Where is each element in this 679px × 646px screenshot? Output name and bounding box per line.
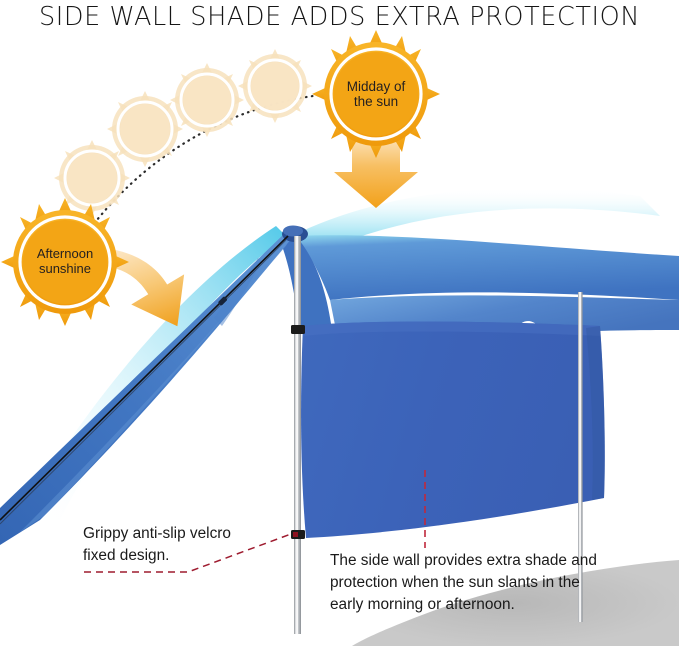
afternoon-callout: Afternoon sunshine [6, 203, 124, 321]
midday-label-line2: the sun [354, 94, 398, 109]
velcro-annotation-text: Grippy anti-slip velcro fixed design. [83, 523, 231, 567]
velcro-clip-top [291, 325, 305, 334]
infographic-canvas: SIDE WALL SHADE ADDS EXTRA PROTECTION [0, 0, 679, 646]
afternoon-label-line1: Afternoon [37, 247, 93, 262]
midday-label-line1: Midday of [347, 79, 406, 94]
sidewall-annotation-text: The side wall provides extra shade and p… [330, 550, 597, 616]
faded-sun-group [54, 49, 312, 216]
velcro-clip-bottom [291, 530, 305, 539]
faded-sun-2 [107, 91, 183, 167]
midday-callout-label: Midday of the sun [317, 35, 435, 153]
afternoon-label-line2: sunshine [39, 262, 91, 277]
center-pole [294, 236, 301, 634]
midday-callout: Midday of the sun [317, 35, 435, 153]
afternoon-callout-label: Afternoon sunshine [6, 203, 124, 321]
faded-sun-3 [170, 63, 244, 137]
faded-sun-4 [238, 49, 312, 123]
side-wall-panel [301, 322, 605, 539]
